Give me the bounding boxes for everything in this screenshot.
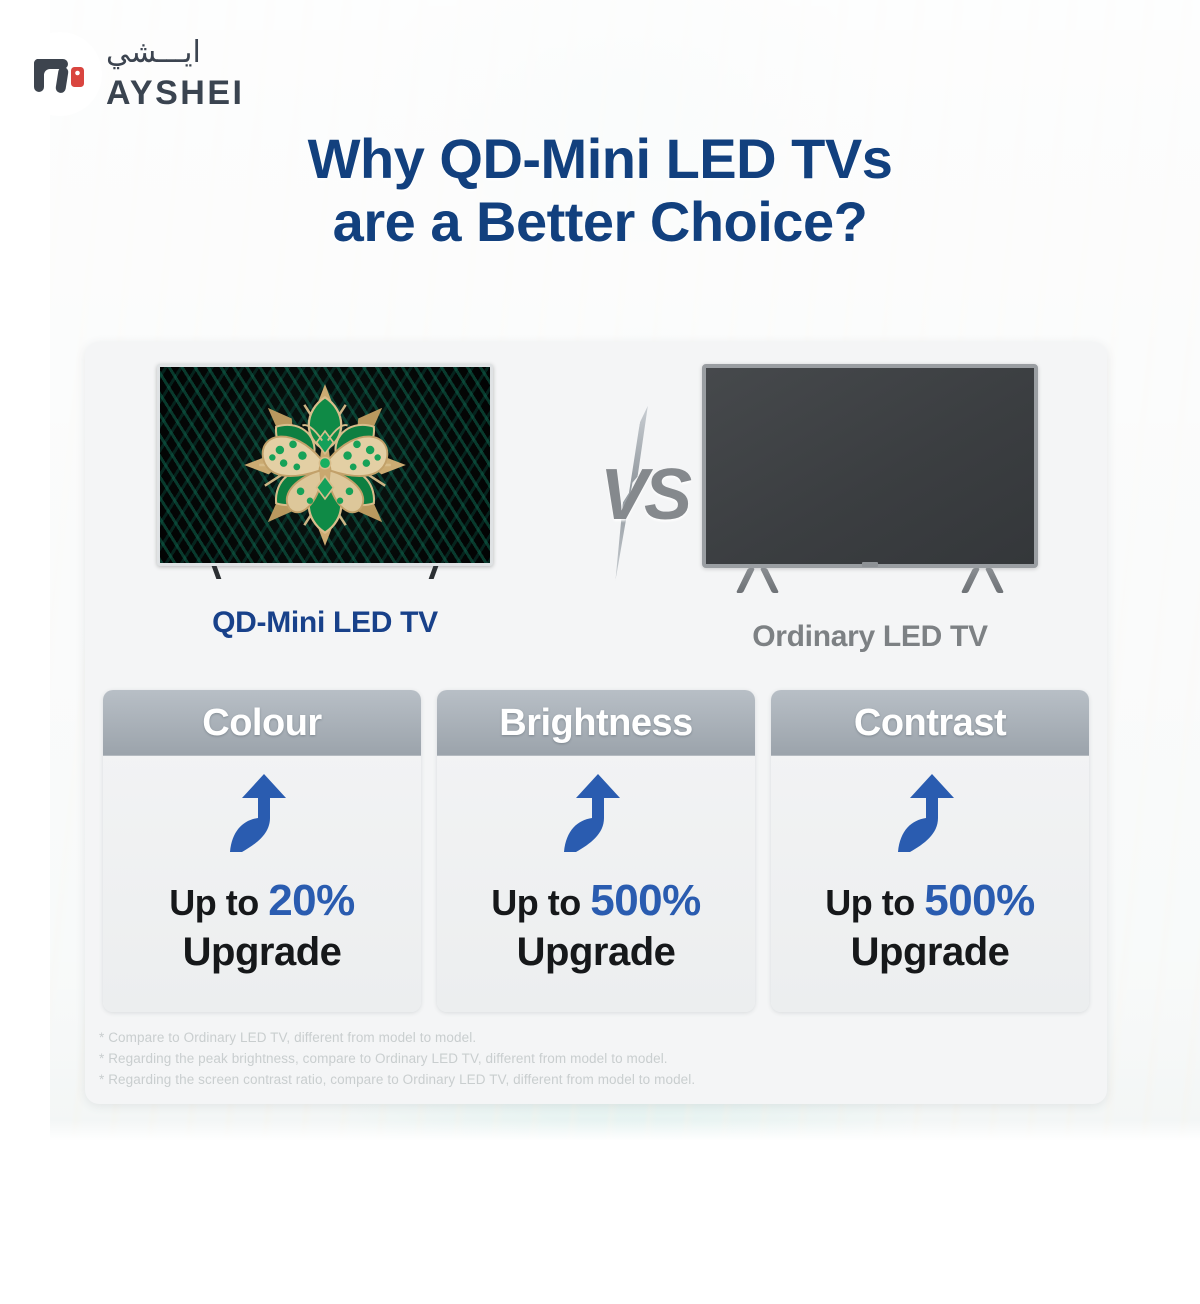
footnote-item: * Compare to Ordinary LED TV, different … [99,1027,999,1048]
footnote-item: * Regarding the peak brightness, compare… [99,1048,999,1069]
background-bottom-fade [0,1120,1200,1140]
feature-card-title: Colour [202,702,321,745]
page-title-line-2: are a Better Choice? [0,191,1200,254]
feature-stat-value: 500% [924,876,1035,925]
brand-wordmark: ايـــشي AYSHEI [106,32,244,110]
page-title: Why QD-Mini LED TVs are a Better Choice? [0,128,1200,253]
footnote-item: * Regarding the screen contrast ratio, c… [99,1069,999,1090]
brand-latin-name: AYSHEI [106,76,244,110]
tv-comparison-row: QD-Mini LED TV VS [85,342,1107,672]
tv-leg [736,568,755,593]
feature-stat-suffix: Upgrade [517,928,676,976]
feature-stat-suffix: Upgrade [851,928,1010,976]
curved-up-arrow-icon [894,756,966,874]
tv-leg [961,568,980,593]
ordinary-tv-label: Ordinary LED TV [670,620,1070,654]
brand-arabic-name: ايـــشي [106,38,244,72]
curved-up-arrow-icon [226,756,298,874]
feature-card-title: Brightness [499,702,692,745]
feature-card-header: Colour [103,690,421,756]
feature-stat-value: 500% [590,876,701,925]
feature-stat-suffix: Upgrade [183,928,342,976]
ordinary-tv-column: Ordinary LED TV [670,364,1070,654]
tv-leg [985,568,1004,593]
comparison-panel: QD-Mini LED TV VS [85,342,1107,1104]
feature-card-stat: Up to 20% [169,874,355,928]
qd-mini-tv-label: QD-Mini LED TV [125,606,525,640]
feature-card-header: Contrast [771,690,1089,756]
feature-stat-value: 20% [268,876,355,925]
butterfly-mandala-icon [231,371,419,559]
feature-stat-prefix: Up to [491,882,580,923]
tv-leg [760,568,779,593]
qd-mini-tv-column: QD-Mini LED TV [125,364,525,640]
curved-up-arrow-icon [560,756,632,874]
feature-stat-prefix: Up to [825,882,914,923]
feature-card-title: Contrast [854,702,1006,745]
footnotes: * Compare to Ordinary LED TV, different … [99,1027,999,1090]
brand-logo: ايـــشي AYSHEI [18,32,244,116]
feature-stat-prefix: Up to [169,882,258,923]
artboard: ايـــشي AYSHEI Why QD-Mini LED TVs are a… [0,0,1200,1140]
ayshei-tag-logo-icon [18,32,102,116]
feature-card-contrast: Contrast Up to 500% Upgrade [771,690,1089,1012]
ordinary-screen-backdrop [706,368,1034,564]
ordinary-tv-chin [862,562,878,567]
feature-card-header: Brightness [437,690,755,756]
feature-card-stat: Up to 500% [491,874,701,928]
feature-card-brightness: Brightness Up to 500% Upgrade [437,690,755,1012]
feature-card-stat: Up to 500% [825,874,1035,928]
ordinary-tv-stand [706,568,1034,594]
qd-mini-tv-stand [160,566,490,580]
page-title-line-1: Why QD-Mini LED TVs [0,128,1200,191]
qd-mini-tv-screen [157,364,493,566]
feature-cards: Colour Up to 20% Upgrade Bri [103,690,1089,1020]
ordinary-tv-screen [702,364,1038,568]
feature-card-colour: Colour Up to 20% Upgrade [103,690,421,1012]
infographic-canvas: ايـــشي AYSHEI Why QD-Mini LED TVs are a… [0,0,1200,1304]
